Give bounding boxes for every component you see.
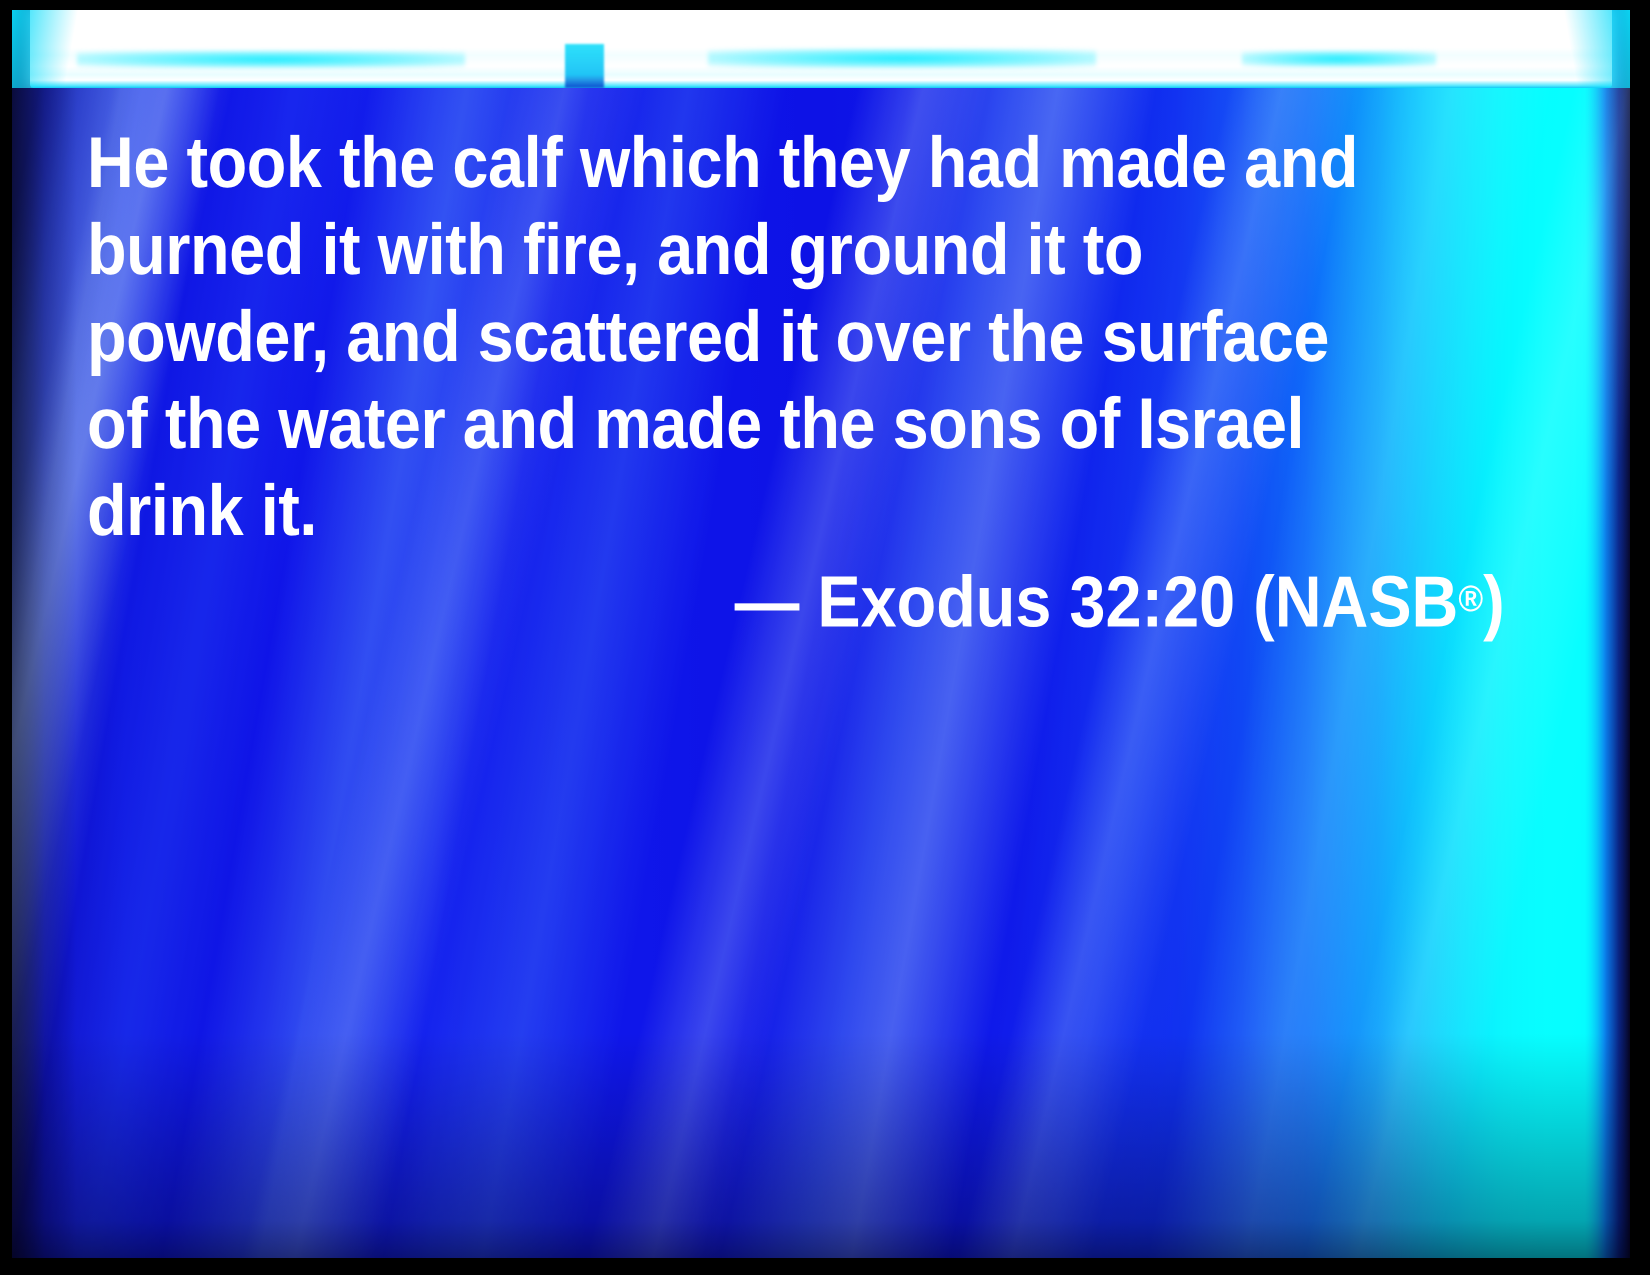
verse-line: He took the calf which they had made and xyxy=(87,120,1392,207)
verse-citation: — Exodus 32:20 (NASB®) xyxy=(87,555,1505,647)
banner-cyan-highlight-middle xyxy=(708,49,1096,68)
banner-corner-glow-right xyxy=(1549,10,1630,88)
slide-canvas: He took the calf which they had made and… xyxy=(12,10,1630,1258)
banner-cyan-highlight-right xyxy=(1242,51,1436,67)
verse-text-block: He took the calf which they had made and… xyxy=(87,120,1537,555)
registered-trademark-icon: ® xyxy=(1459,577,1484,619)
verse-line: powder, and scattered it over the surfac… xyxy=(87,294,1392,381)
verse-line: of the water and made the sons of Israel xyxy=(87,381,1392,468)
citation-inner: — Exodus 32:20 (NASB®) xyxy=(735,555,1505,647)
top-light-banner xyxy=(12,10,1630,88)
verse-line: drink it. xyxy=(87,468,1392,555)
citation-suffix: ) xyxy=(1483,563,1505,643)
banner-cyan-highlight-left xyxy=(77,51,465,68)
verse-slide: He took the calf which they had made and… xyxy=(0,0,1650,1275)
verse-line: burned it with fire, and ground it to xyxy=(87,207,1392,294)
banner-corner-glow-left xyxy=(12,10,93,88)
citation-prefix: — Exodus 32:20 (NASB xyxy=(735,563,1459,643)
banner-cyan-notch xyxy=(565,44,604,88)
